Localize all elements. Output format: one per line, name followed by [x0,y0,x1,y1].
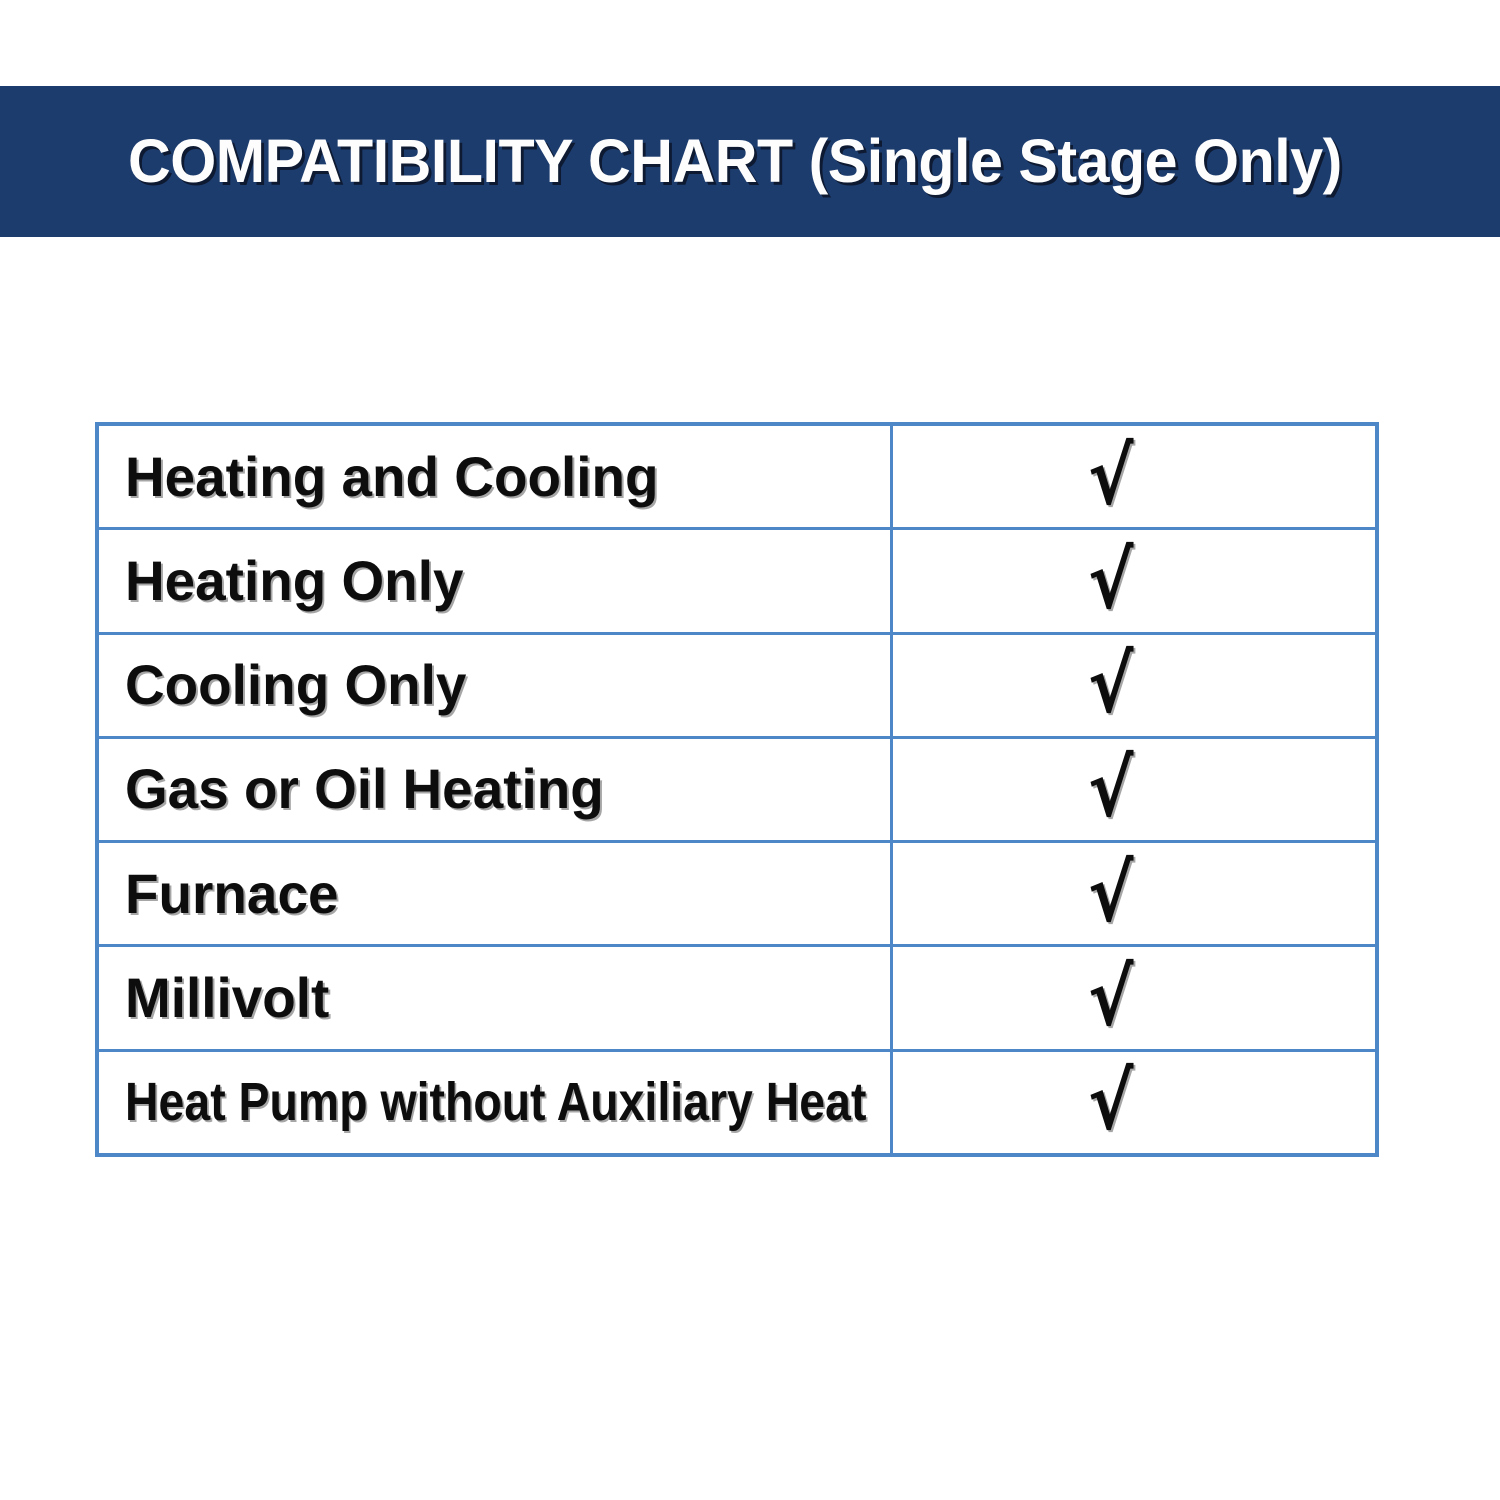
checkmark-icon: √ [1088,646,1133,724]
table-cell-system-type: Heating Only [99,530,893,631]
table-cell-system-type: Heat Pump without Auxiliary Heat [99,1052,893,1153]
checkmark-icon: √ [1088,959,1133,1037]
system-type-label: Cooling Only [125,657,466,713]
table-cell-system-type: Heating and Cooling [99,426,893,527]
table-row: Heating Only √ [99,530,1375,634]
system-type-label: Heating Only [125,553,463,609]
table-cell-compatible: √ [893,947,1375,1048]
header-banner: COMPATIBILITY CHART (Single Stage Only) [0,86,1500,237]
checkmark-icon: √ [1088,542,1133,620]
table-cell-compatible: √ [893,426,1375,527]
table-cell-compatible: √ [893,635,1375,736]
table-cell-system-type: Furnace [99,843,893,944]
compatibility-table: Heating and Cooling √ Heating Only √ Coo… [95,422,1379,1157]
system-type-label: Furnace [125,866,339,922]
system-type-label: Heating and Cooling [125,449,659,505]
table-cell-compatible: √ [893,739,1375,840]
checkmark-icon: √ [1088,855,1133,933]
table-row: Heating and Cooling √ [99,426,1375,530]
checkmark-icon: √ [1088,437,1133,515]
table-row: Cooling Only √ [99,635,1375,739]
table-cell-compatible: √ [893,1052,1375,1153]
checkmark-icon: √ [1088,1063,1133,1141]
table-row: Millivolt √ [99,947,1375,1051]
system-type-label: Heat Pump without Auxiliary Heat [125,1075,866,1129]
table-cell-system-type: Gas or Oil Heating [99,739,893,840]
table-row: Gas or Oil Heating √ [99,739,1375,843]
table-cell-system-type: Cooling Only [99,635,893,736]
page-title: COMPATIBILITY CHART (Single Stage Only) [128,131,1342,192]
table-cell-compatible: √ [893,843,1375,944]
table-row: Heat Pump without Auxiliary Heat √ [99,1052,1375,1153]
table-cell-compatible: √ [893,530,1375,631]
system-type-label: Millivolt [125,970,329,1026]
checkmark-icon: √ [1088,750,1133,828]
table-cell-system-type: Millivolt [99,947,893,1048]
system-type-label: Gas or Oil Heating [125,761,604,817]
table-row: Furnace √ [99,843,1375,947]
